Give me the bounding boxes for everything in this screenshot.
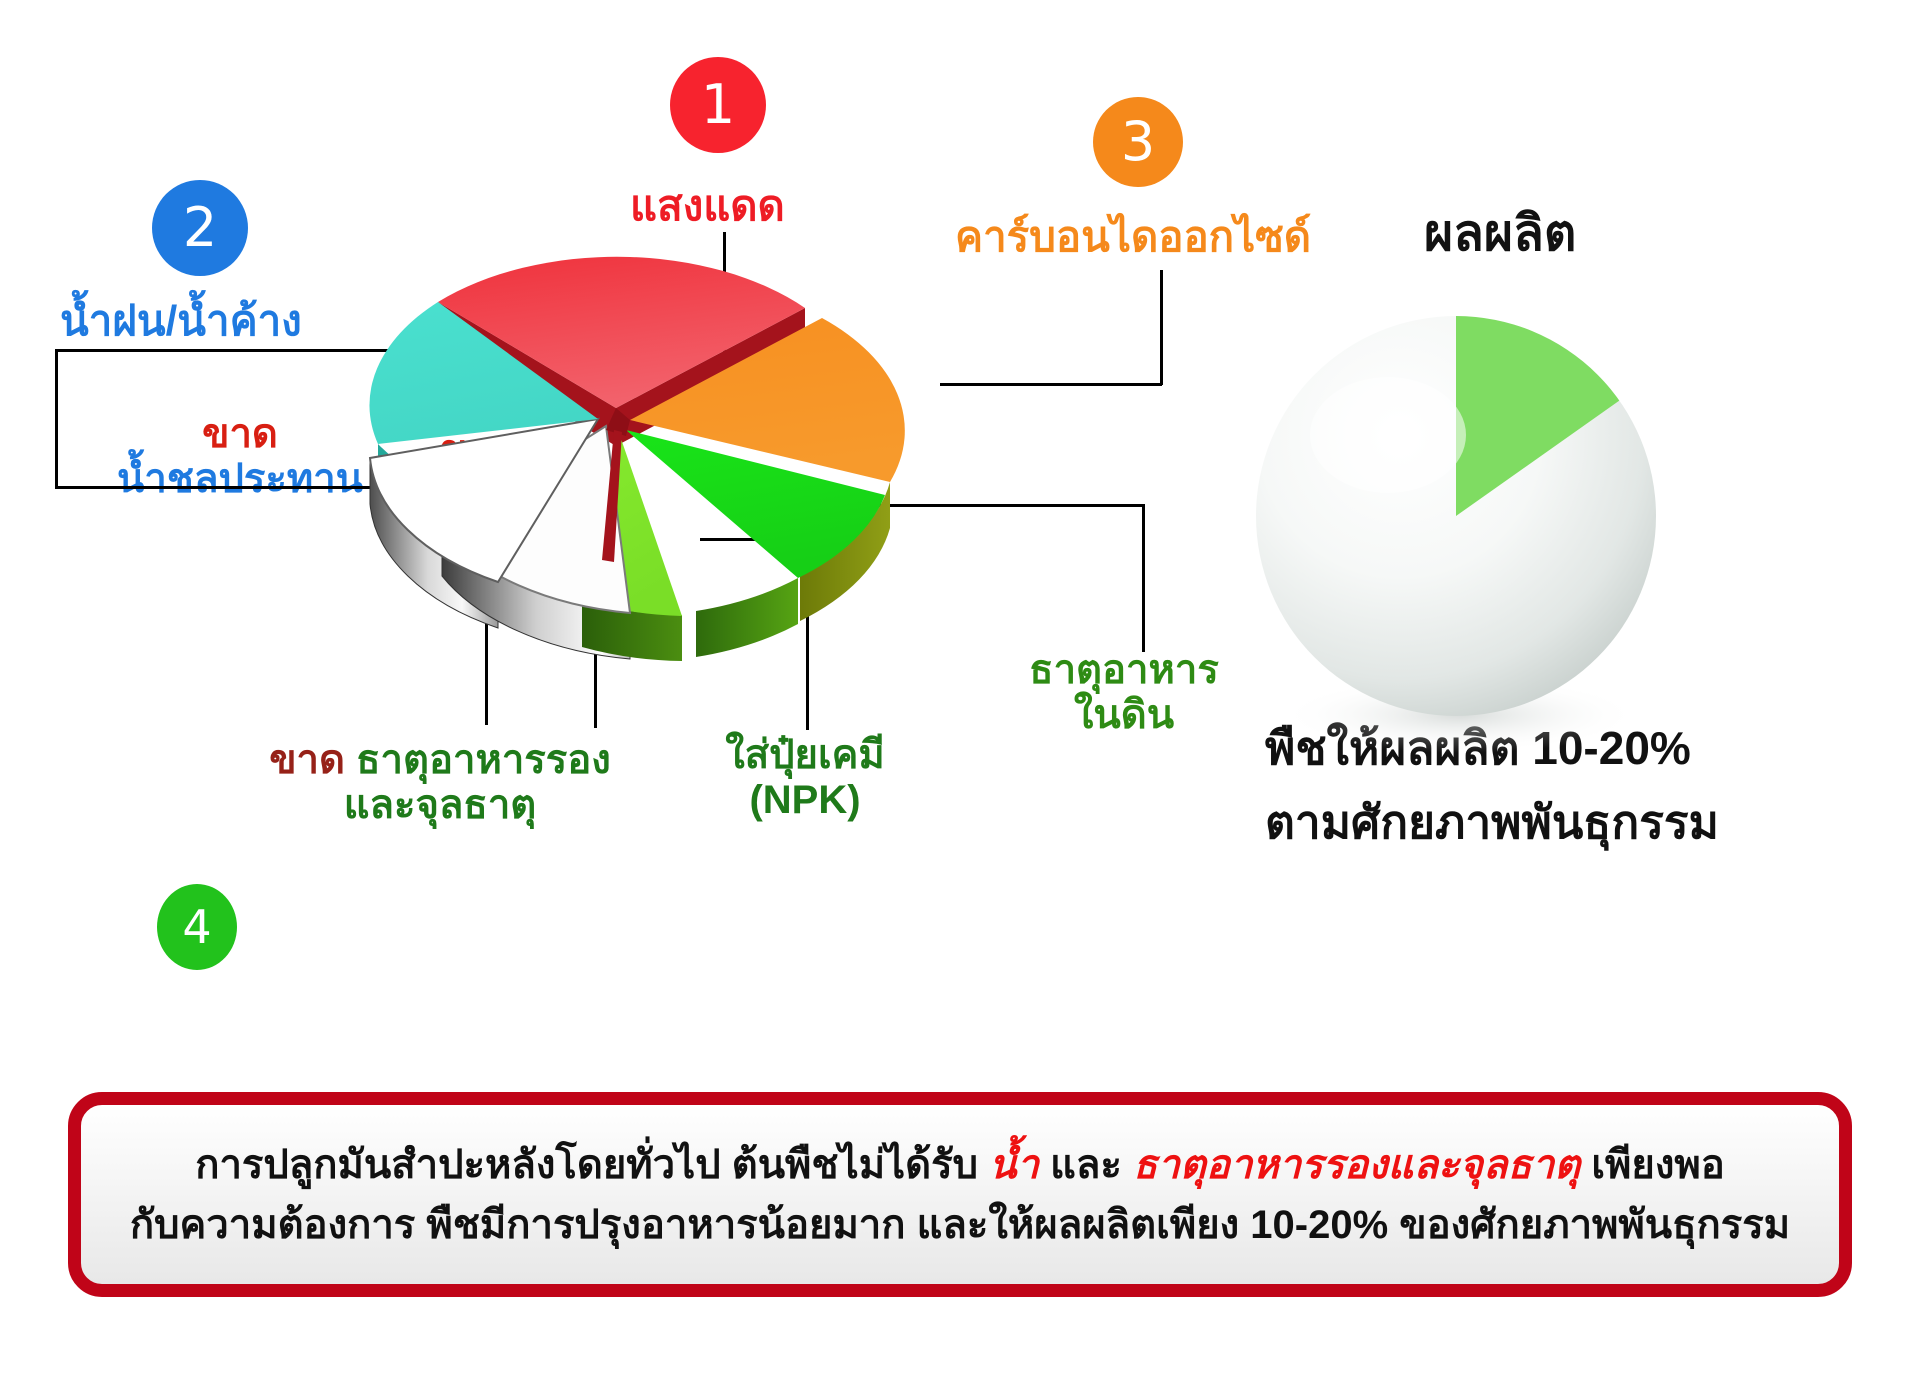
label-soil-nutrient: ธาตุอาหาร ในดิน [1014,648,1234,738]
summary-line-1-part-c: เพียงพอ [1580,1143,1725,1187]
pie-chart-3d [330,230,1030,790]
leader-line-rainwater-left [55,349,58,489]
summary-highlight-water: น้ำ [989,1143,1039,1187]
label-soil-nutrient-line1: ธาตุอาหาร [1029,648,1219,692]
leader-line-co2-vertical [1160,270,1163,385]
label-rainwater: น้ำฝน/น้ำค้าง [60,297,302,344]
yield-statement-line-2: ตามศักยภาพพันธุกรรม [1265,786,1719,859]
badge-1-number: 1 [701,78,735,132]
yield-sphere [1228,300,1698,770]
badge-4-number: 4 [182,904,211,950]
badge-4: 4 [157,884,237,970]
label-soil-nutrient-line2: ในดิน [1074,693,1174,737]
summary-line-1: การปลูกมันสำปะหลังโดยทั่วไป ต้นพืชไม่ได้… [195,1135,1725,1195]
sphere-highlight [1310,377,1466,493]
summary-line-1-part-a: การปลูกมันสำปะหลังโดยทั่วไป ต้นพืชไม่ได้… [195,1143,989,1187]
badge-2: 2 [152,180,248,276]
badge-1: 1 [670,57,766,153]
badge-2-number: 2 [183,201,217,255]
summary-line-1-part-b: และ [1039,1143,1133,1187]
badge-3-number: 3 [1121,115,1155,169]
leader-line-soil-vertical [1142,504,1145,652]
label-yield-title: ผลผลิต [1424,205,1576,261]
summary-highlight-micronutrients: ธาตุอาหารรองและจุลธาตุ [1133,1143,1580,1187]
summary-line-2: กับความต้องการ พืชมีการปรุงอาหารน้อยมาก … [130,1195,1790,1255]
label-sunlight: แสงแดด [630,182,785,229]
infographic-canvas: 1 2 3 4 แสงแดด น้ำฝน/น้ำค้าง คาร์บอนไดออ… [0,0,1920,1378]
summary-callout: การปลูกมันสำปะหลังโดยทั่วไป ต้นพืชไม่ได้… [68,1092,1852,1297]
badge-3: 3 [1093,97,1183,187]
